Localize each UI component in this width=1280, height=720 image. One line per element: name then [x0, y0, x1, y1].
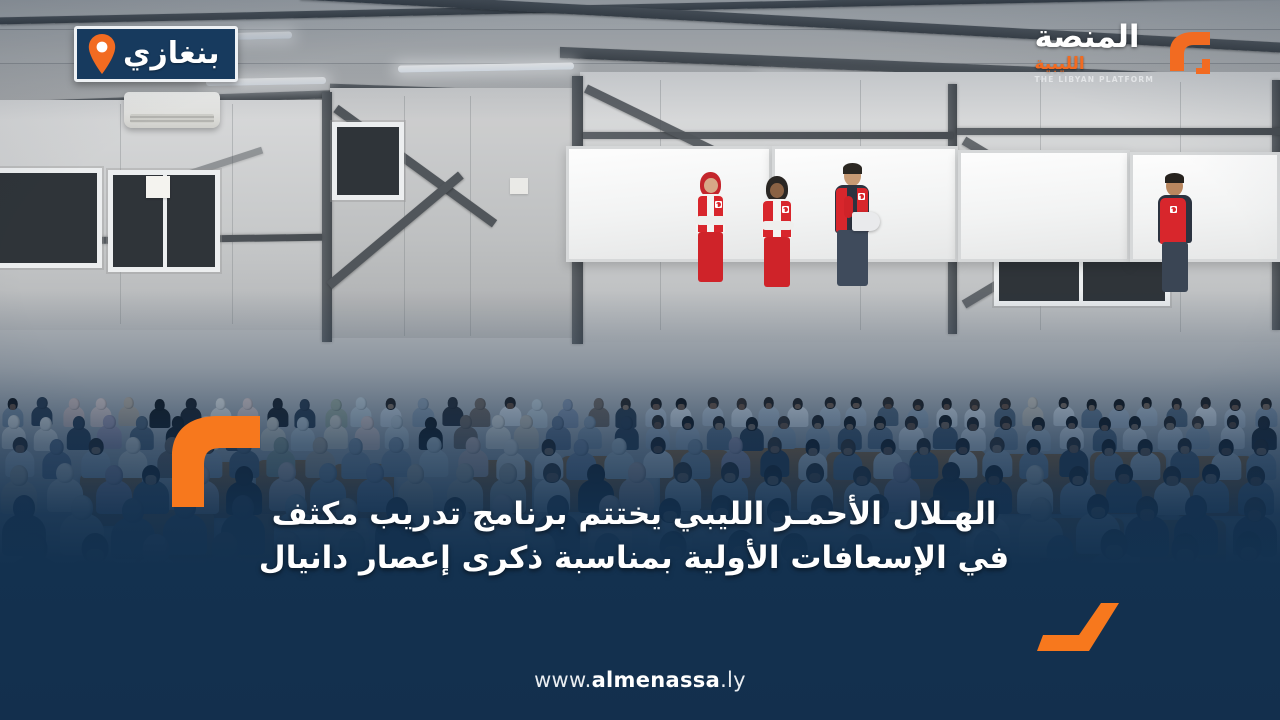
website-url[interactable]: www.almenassa.ly [0, 668, 1280, 692]
logo-english-tagline: THE LIBYAN PLATFORM [1034, 76, 1154, 84]
url-suffix: .ly [720, 668, 746, 692]
headline-line-2: في الإسعافات الأولية بمناسبة ذكرى إعصار … [220, 536, 1048, 580]
headline: الهـلال الأحمـر الليبي يختتم برنامج تدري… [220, 492, 1048, 580]
location-badge[interactable]: بنغازي [74, 26, 238, 82]
headline-line-1: الهـلال الأحمـر الليبي يختتم برنامج تدري… [220, 492, 1048, 536]
location-label: بنغازي [123, 39, 219, 69]
map-pin-icon [87, 34, 117, 74]
logo-hook-mark-icon [1162, 25, 1218, 81]
brand-logo[interactable]: المنصة الليبية THE LIBYAN PLATFORM [1034, 22, 1218, 84]
video-thumbnail: بنغازي المنصة الليبية THE LIBYAN PLATFOR… [0, 0, 1280, 720]
logo-arabic-primary: المنصة [1034, 22, 1139, 53]
orange-tick-mark-icon [1027, 601, 1123, 653]
url-prefix: www. [534, 668, 591, 692]
logo-wordmark: المنصة الليبية THE LIBYAN PLATFORM [1034, 22, 1154, 84]
url-name: almenassa [592, 668, 721, 692]
logo-arabic-secondary: الليبية [1034, 56, 1084, 73]
